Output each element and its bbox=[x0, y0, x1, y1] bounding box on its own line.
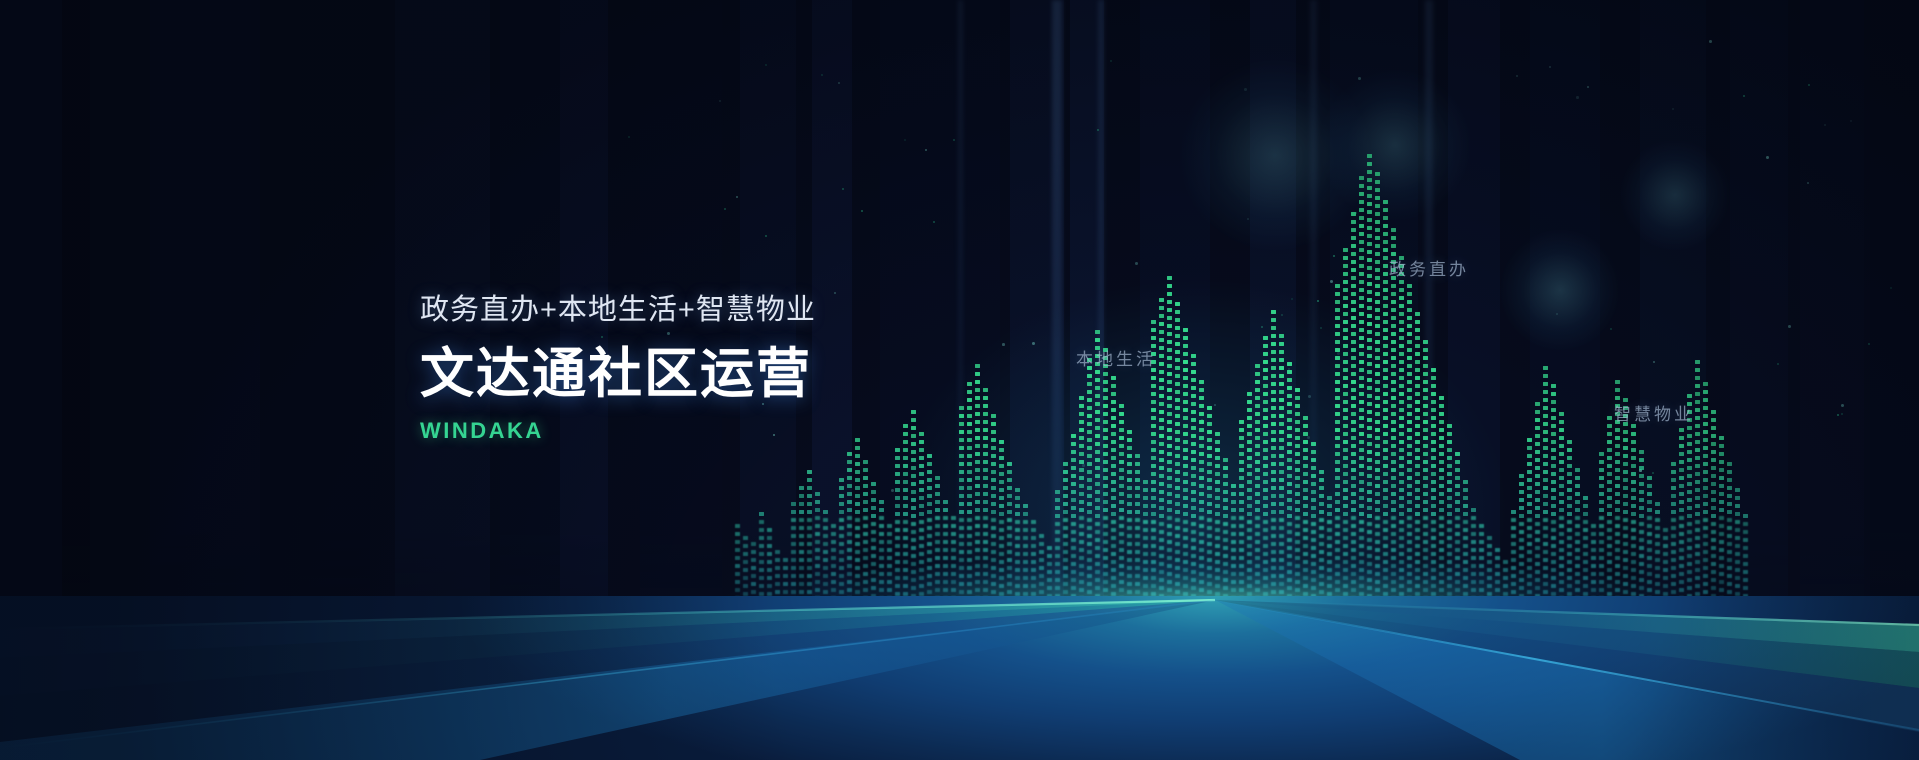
banner-subtitle: 政务直办+本地生活+智慧物业 bbox=[420, 296, 816, 325]
floating-label-1: 政务直办 bbox=[1389, 255, 1469, 280]
page-title: 文达通社区运营 bbox=[420, 347, 816, 401]
brand-name: WINDAKA bbox=[420, 420, 816, 442]
floating-label-2: 本地生活 bbox=[1076, 345, 1156, 370]
floating-label-3: 智慧物业 bbox=[1614, 400, 1694, 425]
hero-copy: 政务直办+本地生活+智慧物业 文达通社区运营 WINDAKA bbox=[420, 296, 816, 442]
vignette bbox=[0, 0, 1919, 760]
hero-banner: 政务直办本地生活智慧物业 政务直办+本地生活+智慧物业 文达通社区运营 WIND… bbox=[0, 0, 1919, 760]
